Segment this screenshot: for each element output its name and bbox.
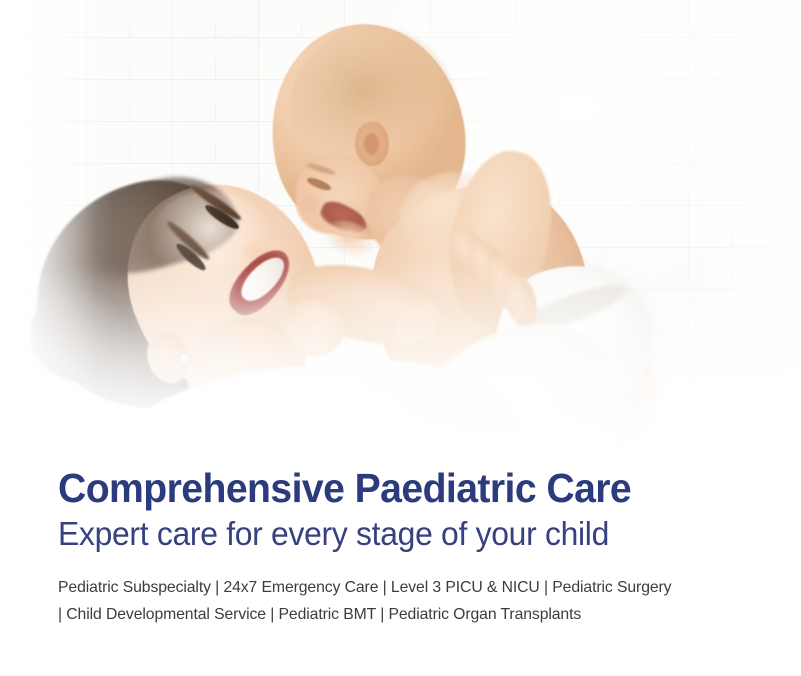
services-line-2: | Child Developmental Service | Pediatri… [58, 602, 748, 629]
services-line-1: Pediatric Subspecialty | 24x7 Emergency … [58, 575, 748, 602]
paediatric-care-banner: Comprehensive Paediatric Care Expert car… [0, 0, 801, 676]
banner-subheadline: Expert care for every stage of your chil… [58, 516, 734, 553]
banner-copy: Comprehensive Paediatric Care Expert car… [58, 466, 758, 629]
banner-headline: Comprehensive Paediatric Care [58, 466, 727, 510]
photo-bottom-wash [0, 0, 801, 500]
services-list: Pediatric Subspecialty | 24x7 Emergency … [58, 575, 748, 629]
hero-photo [0, 0, 801, 500]
